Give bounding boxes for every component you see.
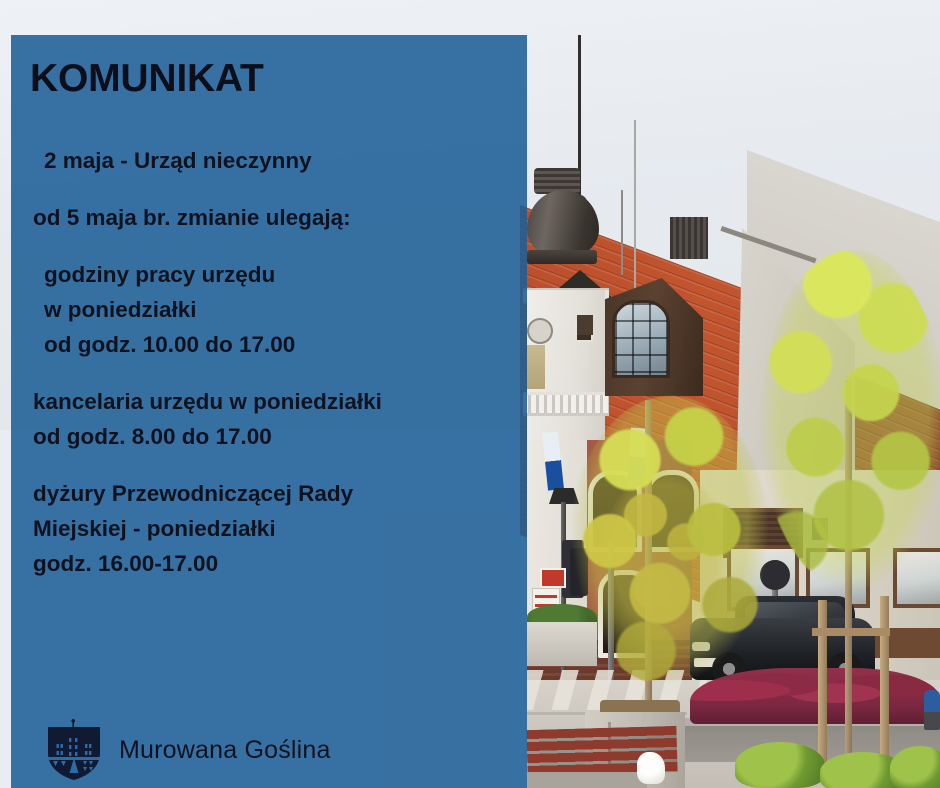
brand-name: Murowana Goślina	[119, 736, 331, 765]
tree-stake	[880, 596, 889, 780]
murowana-goslina-coat-of-arms-icon	[45, 719, 103, 781]
announcement-line: dyżury Przewodniczącej Rady	[33, 476, 527, 511]
tower-balustrade	[523, 392, 609, 416]
tree-canopy	[760, 250, 940, 590]
red-hedge	[690, 668, 940, 724]
dome-base	[527, 250, 597, 264]
announcement-line: 2 maja - Urząd nieczynny	[44, 143, 527, 178]
dormer-window	[612, 300, 670, 378]
red-sign-icon	[540, 568, 566, 588]
announcement-poster: KOMUNIKAT 2 maja - Urząd nieczynnyod 5 m…	[0, 0, 940, 788]
concrete-planter	[527, 622, 597, 666]
page-title: KOMUNIKAT	[30, 57, 264, 101]
announcement-paragraph: godziny pracy urzęduw poniedziałkiod god…	[11, 257, 527, 362]
tower-clock-icon	[527, 318, 553, 344]
tree-stake-crossbar	[812, 628, 890, 636]
announcement-line: godziny pracy urzędu	[44, 257, 527, 292]
announcement-body: 2 maja - Urząd nieczynnyod 5 maja br. zm…	[11, 143, 527, 603]
shrub	[890, 746, 940, 788]
announcement-paragraph: kancelaria urzędu w poniedziałkiod godz.…	[11, 384, 527, 454]
announcement-line: od godz. 10.00 do 17.00	[44, 327, 527, 362]
antenna-secondary-icon	[621, 190, 623, 275]
tree-canopy	[570, 396, 770, 686]
announcement-paragraph: dyżury Przewodniczącej RadyMiejskiej - p…	[11, 476, 527, 581]
announcement-line: od 5 maja br. zmianie ulegają:	[33, 200, 527, 235]
shrub	[735, 742, 825, 788]
tower-panel	[527, 345, 545, 389]
announcement-panel: KOMUNIKAT 2 maja - Urząd nieczynnyod 5 m…	[11, 35, 527, 788]
announcement-paragraph: 2 maja - Urząd nieczynny	[11, 143, 527, 178]
announcement-line: w poniedziałki	[44, 292, 527, 327]
pedestrian	[924, 690, 940, 730]
announcement-paragraph: od 5 maja br. zmianie ulegają:	[11, 200, 527, 235]
bench-base	[527, 772, 647, 788]
announcement-line: od godz. 8.00 do 17.00	[33, 419, 527, 454]
announcement-line: godz. 16.00-17.00	[33, 546, 527, 581]
roof-vent	[670, 217, 708, 259]
white-object	[637, 752, 665, 784]
antenna-icon	[634, 120, 636, 290]
birdhouse	[577, 315, 593, 335]
announcement-line: Miejskiej - poniedziałki	[33, 511, 527, 546]
brand: Murowana Goślina	[45, 719, 331, 781]
announcement-line: kancelaria urzędu w poniedziałki	[33, 384, 527, 419]
